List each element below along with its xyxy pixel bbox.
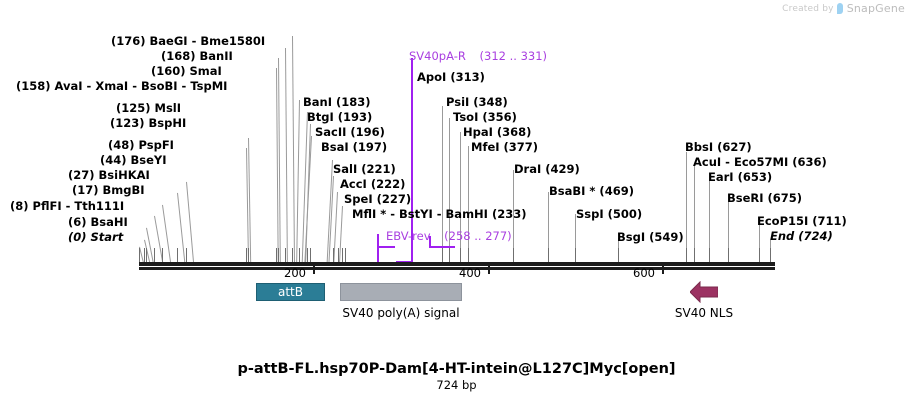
enzyme-label-apoi[interactable]: ApoI (313) [417,71,485,83]
enzyme-label-bseyi[interactable]: (44) BseYI [100,154,167,166]
site-tick [460,248,461,263]
feature-sv40-nls[interactable] [690,281,718,303]
enzyme-label-msli[interactable]: (125) MslI [116,102,181,114]
enzyme-label-smai[interactable]: (160) SmaI [151,65,222,77]
site-tick [709,248,710,263]
axis-label-200: 200 [284,266,306,280]
enzyme-label-bmgbi[interactable]: (17) BmgBI [72,184,145,196]
sequence-length: 724 bp [0,378,913,392]
site-tick [728,248,729,263]
site-tick [278,248,279,263]
feature-sv40-nls-caption: SV40 NLS [654,306,754,320]
enzyme-label-tsoi[interactable]: TsoI (356) [453,111,517,123]
enzyme-label-pspfi[interactable]: (48) PspFI [108,139,174,151]
leader-line [468,146,469,264]
primer-line-ebv-rev[interactable] [377,234,379,264]
enzyme-label-start[interactable]: (0) Start [68,231,123,243]
site-tick [548,248,549,263]
leader-line [186,182,194,264]
site-tick [146,248,147,263]
axis-tick-600 [662,266,664,274]
watermark-brand: SnapGene [847,2,905,15]
enzyme-label-avai-xmai-bsobi-tspmi[interactable]: (158) AvaI - XmaI - BsoBI - TspMI [16,80,227,92]
enzyme-label-mfli-bstyi-bamhi[interactable]: MflI * - BstYI - BamHI (233) [352,208,526,220]
enzyme-label-sacii[interactable]: SacII (196) [315,126,385,138]
primer-label-sv40pa-r[interactable]: SV40pA-R (312 .. 331) [409,50,547,62]
snapgene-watermark: Created by SnapGene [782,2,905,15]
site-tick [292,248,293,263]
site-tick [154,248,155,263]
enzyme-label-bsihkai[interactable]: (27) BsiHKAI [68,169,150,181]
enzyme-label-sali[interactable]: SalI (221) [333,163,396,175]
enzyme-label-acui-eco57mi[interactable]: AcuI - Eco57MI (636) [693,156,827,168]
feature-attb[interactable]: attB [256,283,325,301]
watermark-prefix: Created by [782,4,834,14]
enzyme-label-bsabi[interactable]: BsaBI * (469) [549,185,634,197]
feature-sv40-polya-caption: SV40 poly(A) signal [340,306,462,320]
enzyme-label-ecop15i[interactable]: EcoP15I (711) [757,215,847,227]
page-title: p-attB-FL.hsp70P-Dam[4-HT-intein@L127C]M… [0,361,913,377]
site-tick [162,248,163,263]
enzyme-label-hpai[interactable]: HpaI (368) [463,126,531,138]
primer-name-sv40pa-r: SV40pA-R [409,49,466,63]
primer-range-ebv-rev: (258 .. 277) [444,229,512,243]
leader-line [162,205,171,264]
enzyme-label-bsahi[interactable]: (6) BsaHI [68,216,128,228]
enzyme-label-eari[interactable]: EarI (653) [708,171,772,183]
site-tick [345,248,346,263]
site-tick [285,248,286,263]
enzyme-label-psii[interactable]: PsiI (348) [446,96,508,108]
primer-name-ebv-rev: EBV-rev [386,229,431,243]
enzyme-label-bsai[interactable]: BsaI (197) [321,141,387,153]
enzyme-label-bsphi[interactable]: (123) BspHI [110,117,186,129]
primer-foot-ebv-rev [377,246,395,248]
site-tick [248,248,249,263]
site-tick [694,248,695,263]
enzyme-label-drai[interactable]: DraI (429) [514,163,580,175]
site-tick [513,248,514,263]
primer-range-sv40pa-r: (312 .. 331) [480,49,548,63]
sequence-backbone-lower [139,267,775,270]
leader-line [292,36,295,264]
sequence-backbone[interactable] [139,262,775,266]
arrow-left-icon [690,281,718,303]
site-tick [770,248,771,263]
site-tick [246,248,247,263]
enzyme-label-end[interactable]: End (724) [770,230,833,242]
site-tick [139,248,140,263]
site-tick [276,248,277,263]
leader-line [460,132,461,264]
leader-line [177,193,185,264]
enzyme-label-bani[interactable]: BanI (183) [303,96,371,108]
axis-label-400: 400 [459,266,481,280]
enzyme-label-bsgi[interactable]: BsgI (549) [617,231,684,243]
site-tick [144,248,145,263]
site-tick [575,248,576,263]
primer-label-ebv-rev[interactable]: EBV-rev (258 .. 277) [386,230,512,242]
axis-tick-400 [488,266,490,274]
enzyme-label-baegi-bme1580i[interactable]: (176) BaeGI - Bme1580I [111,35,265,47]
axis-tick-200 [313,266,315,274]
enzyme-label-btgi[interactable]: BtgI (193) [307,111,372,123]
enzyme-label-pflfi-tth111i[interactable]: (8) PflFI - Tth111I [10,200,124,212]
site-tick [342,248,343,263]
plasmid-map: Created by SnapGene [0,0,913,400]
axis-label-600: 600 [633,266,655,280]
site-tick [177,248,178,263]
enzyme-label-sspi[interactable]: SspI (500) [576,208,642,220]
enzyme-label-spei[interactable]: SpeI (227) [344,193,411,205]
leader-line [285,48,288,264]
enzyme-label-acci[interactable]: AccI (222) [340,178,405,190]
enzyme-label-bseri[interactable]: BseRI (675) [727,192,802,204]
site-tick [618,248,619,263]
leader-line [296,100,300,264]
site-tick [307,248,308,263]
site-tick [186,248,187,263]
site-tick [686,248,687,263]
site-tick [449,248,450,263]
site-tick [333,248,334,263]
snapgene-logo-icon [837,3,844,14]
site-tick [310,248,311,263]
enzyme-label-mfei[interactable]: MfeI (377) [471,141,538,153]
site-tick [759,248,760,263]
feature-sv40-polya[interactable] [340,283,462,301]
site-tick [338,248,339,263]
enzyme-label-bbsi[interactable]: BbsI (627) [685,141,752,153]
feature-attb-label: attB [278,285,303,299]
site-tick [442,248,443,263]
site-tick [468,248,469,263]
enzyme-label-banii[interactable]: (168) BanII [161,50,233,62]
site-tick [299,248,300,263]
